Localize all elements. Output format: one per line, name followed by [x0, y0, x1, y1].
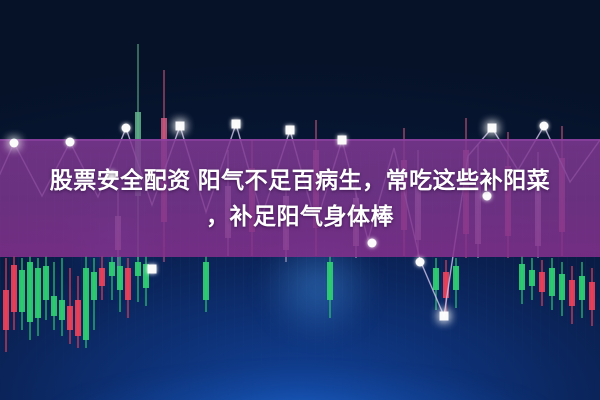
chart-node-markers: [0, 0, 600, 400]
stock-banner-image: 股票安全配资 阳气不足百病生，常吃这些补阳菜 ，补足阳气身体棒: [0, 0, 600, 400]
